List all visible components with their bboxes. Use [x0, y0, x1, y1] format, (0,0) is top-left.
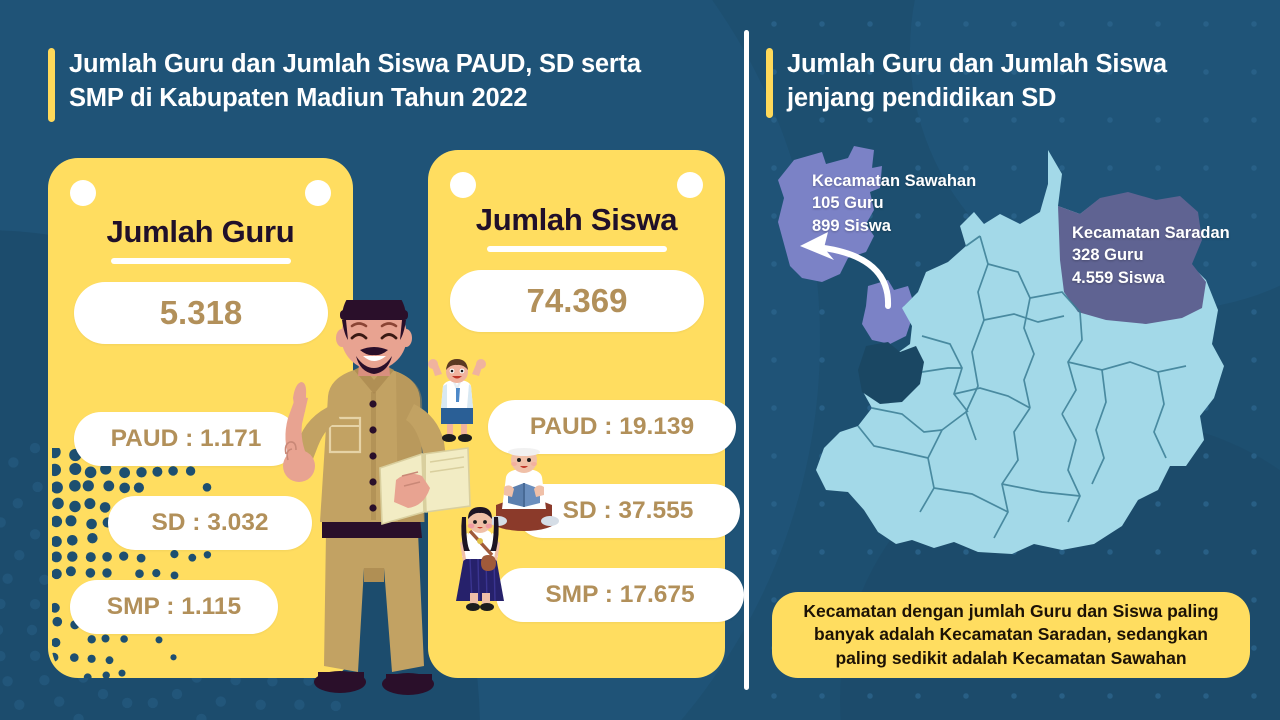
card-title-underline: [111, 258, 291, 264]
guru-smp-value: SMP : 1.115: [70, 580, 278, 634]
right-panel-title: Jumlah Guru dan Jumlah Siswa jenjang pen…: [787, 48, 1167, 115]
smp-student-illustration: [450, 505, 510, 615]
map-annotation-sawahan: Kecamatan Sawahan 105 Guru 899 Siswa: [812, 170, 976, 237]
heading-accent-bar: [48, 48, 55, 122]
card-title-underline: [487, 246, 667, 252]
guru-paud-value: PAUD : 1.171: [74, 412, 298, 466]
card-punch-hole-right-icon: [305, 180, 331, 206]
siswa-total-value: 74.369: [450, 270, 704, 332]
panel-divider: [744, 30, 749, 690]
left-panel-heading: Jumlah Guru dan Jumlah Siswa PAUD, SD se…: [48, 48, 708, 122]
siswa-smp-value: SMP : 17.675: [496, 568, 744, 622]
card-punch-hole-left-icon: [450, 172, 476, 198]
right-panel-heading: Jumlah Guru dan Jumlah Siswa jenjang pen…: [766, 48, 1236, 118]
card-title-siswa: Jumlah Siswa: [428, 202, 725, 238]
halftone-dot-decoration: [52, 448, 302, 678]
infographic-canvas: Jumlah Guru dan Jumlah Siswa PAUD, SD se…: [0, 0, 1280, 720]
card-punch-hole-right-icon: [677, 172, 703, 198]
card-title-guru: Jumlah Guru: [48, 214, 353, 250]
paud-student-illustration: [425, 358, 489, 444]
heading-accent-bar: [766, 48, 773, 118]
left-panel-title: Jumlah Guru dan Jumlah Siswa PAUD, SD se…: [69, 48, 641, 115]
map-annotation-saradan: Kecamatan Saradan 328 Guru 4.559 Siswa: [1072, 222, 1230, 289]
map-caption-box: Kecamatan dengan jumlah Guru dan Siswa p…: [772, 592, 1250, 678]
card-punch-hole-left-icon: [70, 180, 96, 206]
